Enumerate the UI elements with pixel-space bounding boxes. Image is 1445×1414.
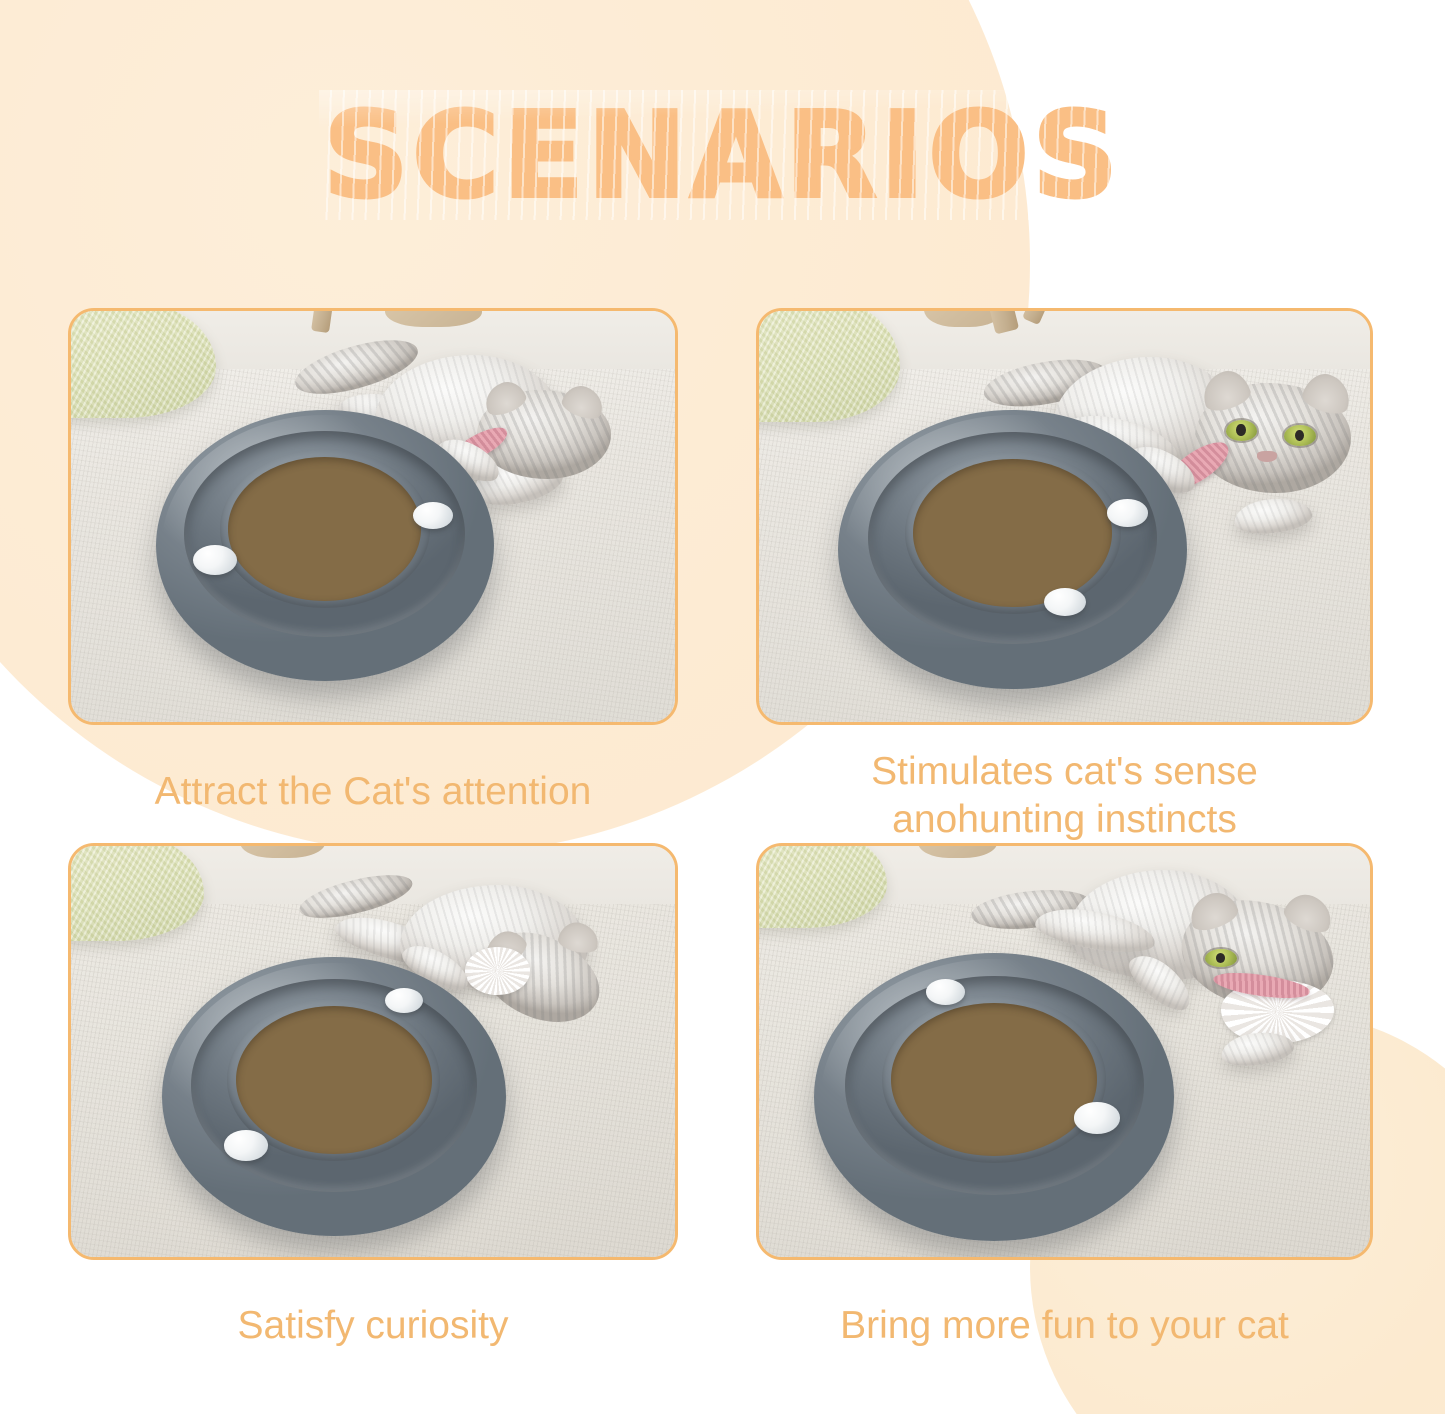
scenario-photo-4 — [759, 846, 1370, 1257]
scenario-photo-2 — [759, 311, 1370, 722]
toy-ball-right — [1074, 1102, 1121, 1134]
cat-nose — [1257, 451, 1277, 462]
toy-ball-lower-left — [224, 1130, 269, 1161]
toy-cardboard-pad — [228, 457, 421, 601]
toy-ball-top-right — [385, 988, 423, 1013]
cat-pupil-left — [1236, 424, 1245, 436]
scenario-card-4 — [756, 843, 1373, 1260]
cat-pupil — [1216, 953, 1226, 963]
cat-scratcher-toy — [814, 953, 1174, 1241]
toy-ball-lower — [1044, 588, 1086, 616]
page-title-text: SCENARIOS — [323, 96, 1121, 214]
cat-eye-visible — [1205, 949, 1237, 967]
cat-eye-left — [1226, 420, 1257, 441]
cat-scratcher-toy — [838, 410, 1186, 689]
toy-cardboard-pad — [236, 1006, 432, 1154]
toy-ball-top — [926, 979, 966, 1005]
wood-leg — [311, 311, 333, 333]
scenario-caption-3: Satisfy curiosity — [68, 1302, 678, 1350]
toy-ball-upper — [1107, 499, 1149, 527]
scenario-caption-2: Stimulates cat's sense anohunting instin… — [742, 748, 1387, 843]
cat-scratcher-toy — [156, 410, 494, 681]
scenarios-infographic: SCENARIOS — [0, 0, 1445, 1414]
toy-ball-left — [193, 545, 237, 575]
toy-ball-right — [413, 502, 454, 529]
cat-scratcher-toy — [162, 957, 506, 1236]
page-title: SCENARIOS — [0, 96, 1445, 214]
scenario-card-2 — [756, 308, 1373, 725]
scenario-card-1 — [68, 308, 678, 725]
scenario-photo-1 — [71, 311, 675, 722]
toy-cardboard-pad — [891, 1003, 1096, 1155]
toy-cardboard-pad — [913, 459, 1112, 607]
cat-pupil-right — [1295, 430, 1304, 442]
cat-eye-right — [1284, 425, 1315, 446]
scenario-caption-1: Attract the Cat's attention — [68, 768, 678, 816]
scenario-caption-4: Bring more fun to your cat — [756, 1302, 1373, 1350]
cat-paw-lower — [1232, 495, 1313, 537]
scenario-card-3 — [68, 843, 678, 1260]
scenario-photo-3 — [71, 846, 675, 1257]
